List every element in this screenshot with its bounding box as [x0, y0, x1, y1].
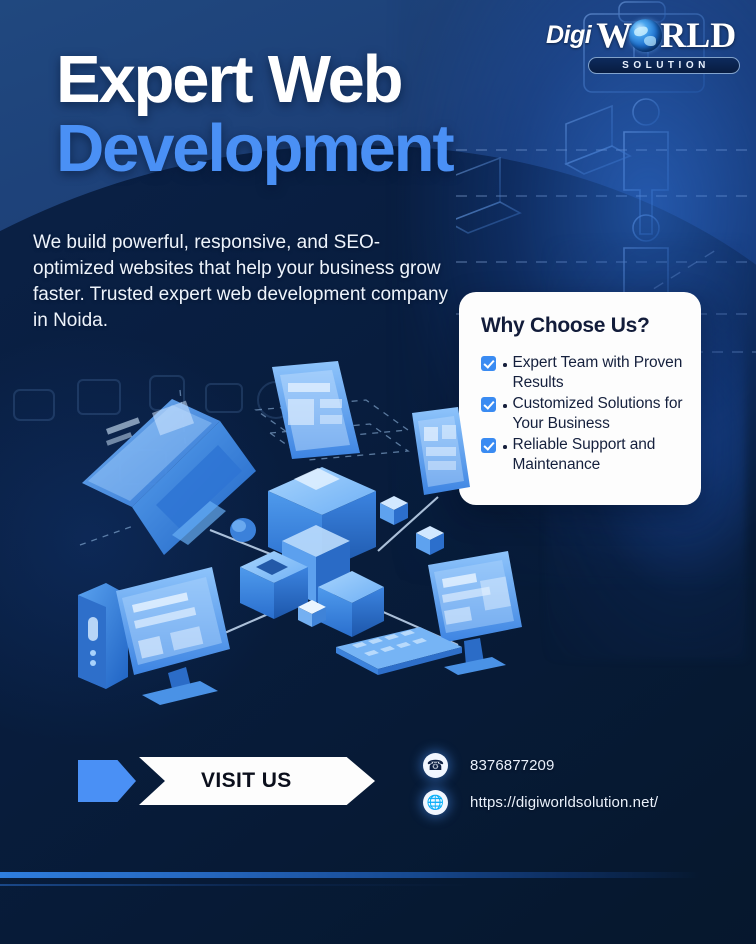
logo-w-letter: W — [596, 17, 632, 53]
isometric-network-illustration — [60, 355, 550, 725]
tablet-right-device — [412, 407, 470, 495]
visit-us-label: VISIT US — [201, 769, 292, 793]
arrow-right-icon — [78, 760, 136, 802]
tablet-top-device — [272, 361, 360, 459]
laptop-device — [82, 399, 256, 555]
globe-icon: 🌐 — [423, 790, 448, 815]
contact-info: ☎ 8376877209 🌐 https://digiworldsolution… — [423, 753, 658, 827]
footer-accent-line — [0, 872, 700, 878]
visit-us-banner[interactable]: VISIT US — [139, 757, 375, 805]
globe-icon — [629, 19, 662, 52]
contact-website-row[interactable]: 🌐 https://digiworldsolution.net/ — [423, 790, 658, 815]
monitor-left-device — [116, 567, 230, 705]
brand-logo[interactable]: Digi W RLD SOLUTION — [546, 14, 748, 76]
card-title: Why Choose Us? — [481, 314, 685, 338]
logo-rld-text: RLD — [660, 17, 736, 53]
headline-line-1: Expert Web — [56, 47, 526, 113]
contact-phone-row[interactable]: ☎ 8376877209 — [423, 753, 658, 778]
poster-canvas: Digi W RLD SOLUTION Expert Web Developme… — [0, 0, 756, 944]
server-cube-cluster — [230, 467, 444, 637]
phone-icon: ☎ — [423, 753, 448, 778]
headline-line-2: Development — [56, 116, 526, 182]
footer-accent-line-secondary — [0, 884, 470, 886]
subheading-paragraph: We build powerful, responsive, and SEO-o… — [33, 230, 453, 334]
page-title: Expert Web Development — [56, 47, 526, 181]
logo-wordmark: Digi W RLD — [546, 14, 748, 56]
logo-tagline-bar: SOLUTION — [588, 57, 740, 74]
logo-digi-text: Digi — [546, 21, 591, 50]
contact-phone-text: 8376877209 — [470, 757, 554, 774]
visit-us-button[interactable]: VISIT US — [78, 757, 378, 805]
logo-tagline-text: SOLUTION — [618, 60, 710, 71]
contact-website-text: https://digiworldsolution.net/ — [470, 794, 658, 811]
